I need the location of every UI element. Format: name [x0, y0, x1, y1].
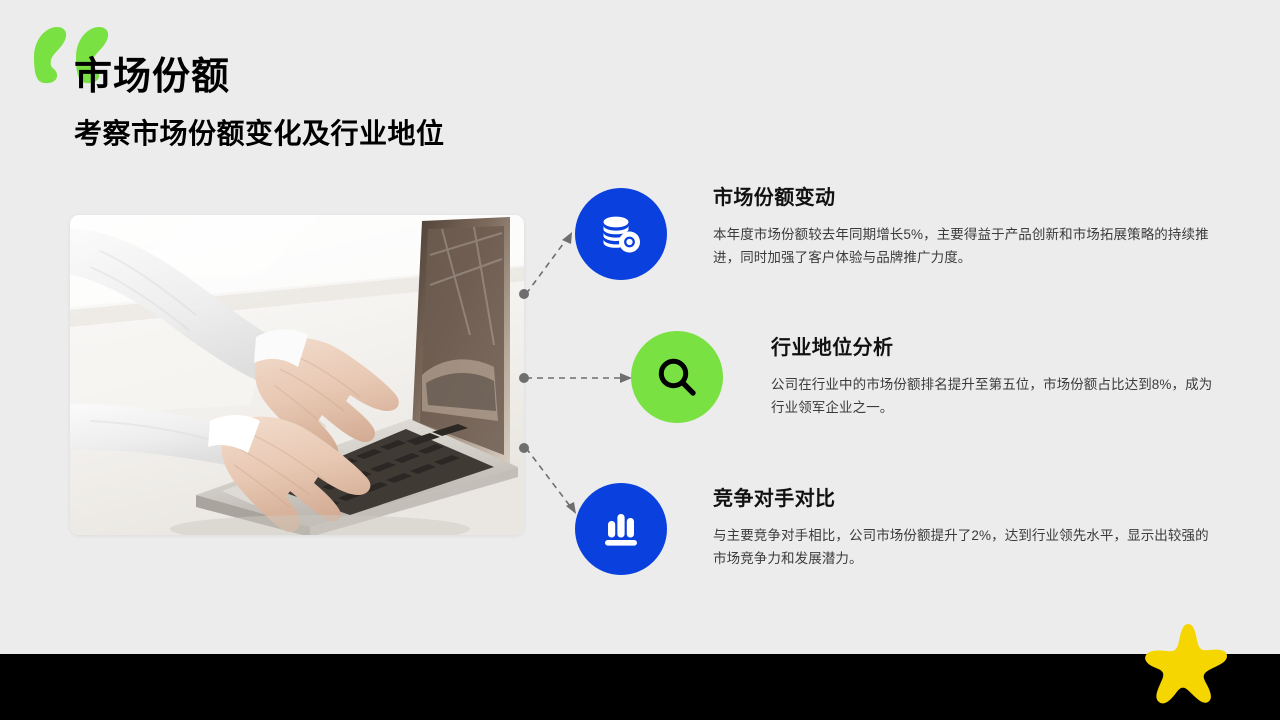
bar-chart-icon [599, 507, 643, 551]
item-body: 本年度市场份额较去年同期增长5%，主要得益于产品创新和市场拓展策略的持续推进，同… [713, 223, 1213, 269]
title-block: 市场份额 考察市场份额变化及行业地位 [74, 56, 694, 150]
connector-bottom [526, 448, 570, 506]
icon-circle-market-share-change[interactable] [575, 188, 667, 280]
page-title: 市场份额 [74, 56, 694, 99]
slide-canvas: 市场份额 考察市场份额变化及行业地位 [0, 0, 1280, 720]
item-body: 公司在行业中的市场份额排名提升至第五位，市场份额占比达到8%，成为行业领军企业之… [771, 373, 1223, 419]
bottom-band [0, 654, 1280, 720]
coins-stack-icon [598, 211, 644, 257]
star-icon [1145, 620, 1231, 706]
item-body: 与主要竞争对手相比，公司市场份额提升了2%，达到行业领先水平，显示出较强的市场竞… [713, 524, 1213, 570]
page-subtitle: 考察市场份额变化及行业地位 [74, 117, 694, 151]
connector-top [526, 240, 566, 294]
item-heading: 市场份额变动 [713, 186, 1213, 210]
arrowhead-bottom [566, 502, 576, 514]
icon-circle-industry-position[interactable] [631, 331, 723, 423]
item-heading: 竞争对手对比 [713, 487, 1213, 511]
item-text-market-share-change: 市场份额变动 本年度市场份额较去年同期增长5%，主要得益于产品创新和市场拓展策略… [713, 186, 1213, 269]
arrowhead-top [562, 232, 572, 244]
item-text-industry-position: 行业地位分析 公司在行业中的市场份额排名提升至第五位，市场份额占比达到8%，成为… [771, 336, 1223, 419]
hero-photo [70, 215, 524, 535]
item-text-competitor-comparison: 竞争对手对比 与主要竞争对手相比，公司市场份额提升了2%，达到行业领先水平，显示… [713, 487, 1213, 570]
item-heading: 行业地位分析 [771, 336, 1223, 360]
icon-circle-competitor-comparison[interactable] [575, 483, 667, 575]
search-magnifier-icon [655, 355, 699, 399]
